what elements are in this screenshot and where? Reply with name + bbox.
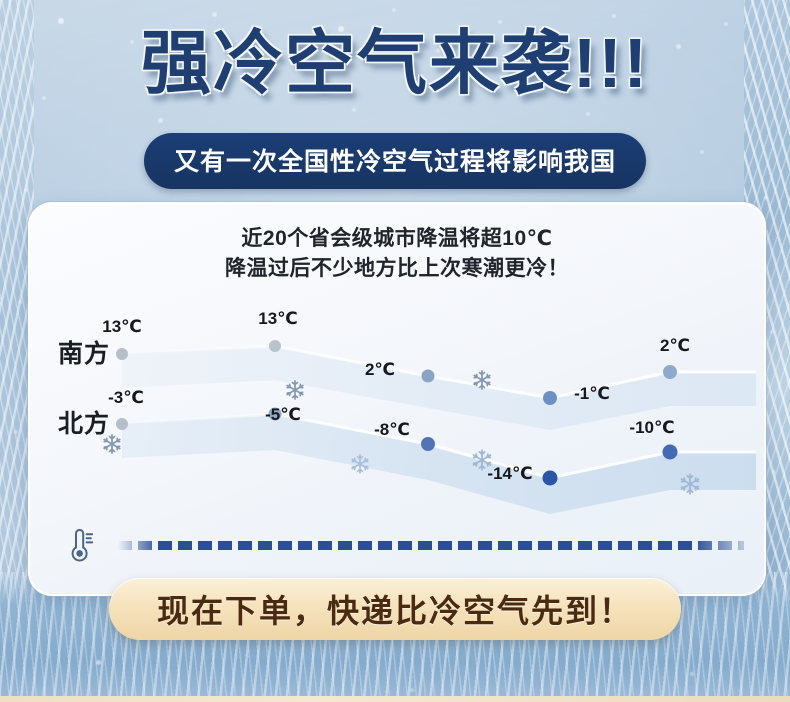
south-value-4: -1℃ [574,384,610,404]
cta-banner[interactable]: 现在下单，快递比冷空气先到！ [109,578,681,640]
poster-root: 强冷空气来袭!!! 又有一次全国性冷空气过程将影响我国 近20个省会级城市降温将… [0,0,790,702]
bottom-accent-strip [0,696,790,702]
north-value-4: -14℃ [487,464,532,484]
card-headline: 近20个省会级城市降温将超10℃ 降温过后不少地方比上次寒潮更冷！ [30,224,764,285]
north-point-4 [543,471,558,486]
cta-label: 现在下单，快递比冷空气先到！ [157,586,633,632]
divider-row [30,522,764,568]
south-value-5: 2℃ [660,336,690,356]
series-label-north: 北方 [58,404,110,440]
south-point-1 [116,348,128,360]
south-point-2 [269,340,281,352]
south-point-4 [543,391,557,405]
south-point-5 [663,365,677,379]
south-value-2: 13℃ [258,309,298,329]
south-point-3 [422,370,435,383]
north-point-1 [116,418,128,430]
card-headline-line-1: 近20个省会级城市降温将超10℃ [30,224,764,254]
north-value-3: -8℃ [374,420,410,440]
subtitle-badge: 又有一次全国性冷空气过程将影响我国 [144,133,646,189]
card-headline-line-2: 降温过后不少地方比上次寒潮更冷！ [30,254,764,284]
info-card: 近20个省会级城市降温将超10℃ 降温过后不少地方比上次寒潮更冷！ [28,202,766,596]
page-title: 强冷空气来袭!!! [0,26,790,102]
south-value-1: 13℃ [102,317,142,337]
north-value-1: -3℃ [108,388,144,408]
thermometer-icon [62,526,96,569]
north-value-2: -5℃ [265,405,301,425]
temperature-chart: 南方 北方 13℃ 13℃ 2℃ -1℃ 2℃ -3℃ -5℃ -8℃ -14℃… [30,302,764,517]
series-label-south: 南方 [58,334,110,370]
north-point-3 [421,437,435,451]
north-value-5: -10℃ [629,418,674,438]
dashed-divider [118,541,744,550]
south-value-3: 2℃ [365,360,395,380]
north-point-5 [663,445,678,460]
